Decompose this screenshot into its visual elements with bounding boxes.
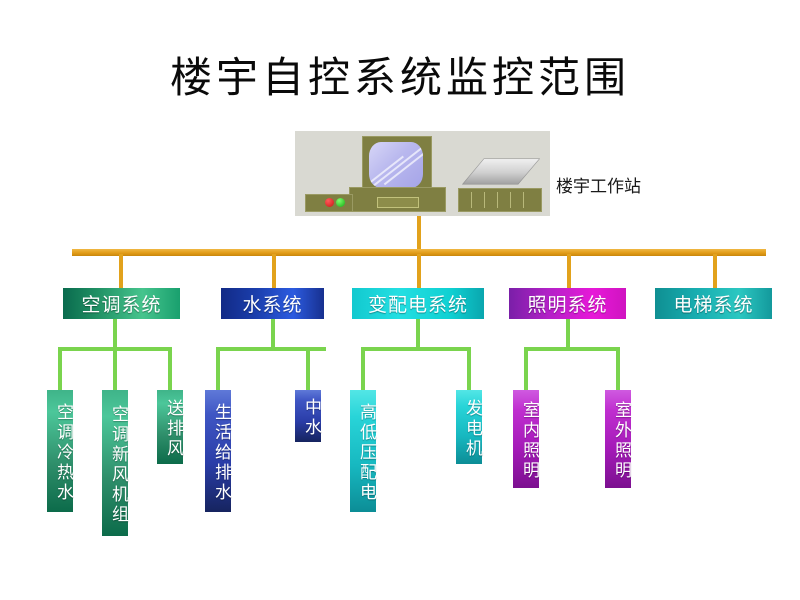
leaf-node-generator[interactable]: 发电机	[456, 390, 482, 464]
leaf-node-fresh-air-unit[interactable]: 空调新风机组	[102, 390, 128, 536]
bus-drop-3	[417, 254, 421, 289]
system-node-power[interactable]: 变配电系统	[352, 288, 484, 319]
system-node-label: 变配电系统	[368, 290, 468, 317]
bus-drop-2	[272, 254, 276, 289]
trunk-connector	[417, 216, 421, 252]
leaf-node-label: 送排风	[163, 399, 183, 459]
leaf-node-reclaimed-water[interactable]: 中水	[295, 390, 321, 442]
page-title: 楼宇自控系统监控范围	[0, 44, 800, 105]
power-stem	[416, 319, 420, 349]
leaf-node-label: 室外照明	[611, 401, 631, 481]
water-stem	[271, 319, 275, 349]
led-panel-icon	[305, 194, 353, 212]
lighting-stem	[566, 319, 570, 349]
bus-drop-4	[567, 254, 571, 289]
bus-drop-1	[119, 254, 123, 289]
leaf-node-label: 空调新风机组	[108, 405, 128, 525]
water-drop-1	[216, 347, 220, 392]
system-node-hvac[interactable]: 空调系统	[63, 288, 180, 319]
leaf-node-label: 空调冷热水	[53, 403, 73, 503]
hvac-drop-3	[168, 347, 172, 392]
leaf-node-supply-exhaust-air[interactable]: 送排风	[157, 390, 183, 464]
leaf-node-chilled-hot-water[interactable]: 空调冷热水	[47, 390, 73, 512]
hvac-drop-2	[113, 347, 117, 392]
printer-scanner-icon	[458, 188, 542, 212]
system-node-water[interactable]: 水系统	[221, 288, 324, 319]
leaf-node-label: 中水	[301, 398, 321, 438]
leaf-node-label: 发电机	[462, 399, 482, 459]
lighting-drop-2	[616, 347, 620, 392]
workstation-label: 楼宇工作站	[556, 172, 641, 197]
system-node-label: 照明系统	[527, 290, 607, 317]
system-node-label: 水系统	[242, 290, 302, 317]
leaf-node-label: 高低压配电	[356, 403, 376, 503]
leaf-node-label: 生活给排水	[211, 403, 231, 503]
leaf-node-domestic-water[interactable]: 生活给排水	[205, 390, 231, 512]
hvac-drop-1	[58, 347, 62, 392]
power-bar	[361, 347, 471, 351]
power-drop-2	[467, 347, 471, 392]
leaf-node-indoor-lighting[interactable]: 室内照明	[513, 390, 539, 488]
system-node-lighting[interactable]: 照明系统	[509, 288, 626, 319]
drive-slot-icon	[377, 197, 419, 208]
leaf-node-hv-lv-distribution[interactable]: 高低压配电	[350, 390, 376, 512]
bus-drop-5	[713, 254, 717, 289]
leaf-node-label: 室内照明	[519, 401, 539, 481]
lighting-drop-1	[524, 347, 528, 392]
leaf-node-outdoor-lighting[interactable]: 室外照明	[605, 390, 631, 488]
monitor-screen	[369, 142, 423, 188]
system-node-label: 空调系统	[81, 290, 161, 317]
diagram-canvas: 楼宇自控系统监控范围 楼宇工作站	[0, 0, 800, 600]
printer-lid-icon	[462, 157, 540, 187]
system-node-label: 电梯系统	[673, 290, 753, 317]
green-status-led-icon	[336, 198, 345, 207]
red-status-led-icon	[325, 198, 334, 207]
power-drop-1	[361, 347, 365, 392]
lighting-bar	[524, 347, 620, 351]
computer-base-icon	[349, 187, 446, 212]
water-drop-2	[306, 347, 310, 392]
hvac-stem	[113, 319, 117, 349]
system-node-elevator[interactable]: 电梯系统	[655, 288, 772, 319]
